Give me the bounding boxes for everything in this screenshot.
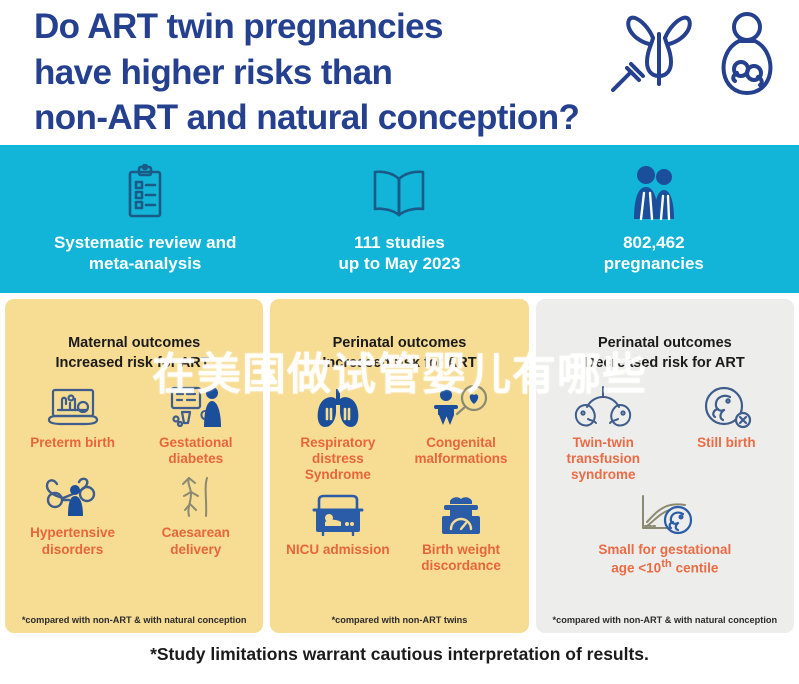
sga-label-superscript: th: [661, 558, 672, 570]
growth-chart-fetus-icon: [633, 490, 697, 538]
stats-band: Systematic review and meta-analysis 111 …: [0, 145, 799, 293]
header-section: Do ART twin pregnancies have higher risk…: [0, 0, 799, 145]
outcome-nicu-admission: NICU admission: [276, 486, 399, 576]
pregnant-woman-twins-icon: [717, 11, 777, 97]
blood-pressure-pregnant-woman-icon: [45, 473, 101, 521]
outcome-label: Small for gestational age <10th centile: [598, 542, 731, 577]
stat-studies-count: 111 studies up to May 2023: [272, 163, 526, 274]
outcome-label: Congenital malformations: [415, 435, 508, 467]
panel-items: Twin-twin transfusion syndrome: [542, 379, 788, 613]
panel-title: Perinatal outcomes Decreased risk for AR…: [542, 333, 788, 373]
outcome-label: NICU admission: [286, 542, 390, 558]
glucose-test-pregnant-woman-icon: [169, 383, 223, 431]
open-book-icon: [370, 163, 428, 221]
outcome-label: Twin-twin transfusion syndrome: [566, 435, 640, 484]
page-title: Do ART twin pregnancies have higher risk…: [0, 4, 590, 141]
page-title-line-2: have higher risks than: [34, 50, 590, 96]
panel-items: Preterm birth: [11, 379, 257, 613]
clipboard-checklist-icon: [123, 163, 167, 221]
incubator-icon: [311, 490, 365, 538]
outcome-hypertensive-disorders: Hypertensive disorders: [11, 469, 134, 559]
outcome-label: Caesarean delivery: [162, 525, 230, 557]
lungs-icon: [312, 383, 364, 431]
panel-footnote: *compared with non-ART & with natural co…: [542, 613, 788, 629]
panel-title: Maternal outcomes Increased risk for ART…: [11, 333, 257, 373]
outcome-congenital-malformations: Congenital malformations: [399, 379, 522, 486]
stat-label: 111 studies up to May 2023: [339, 233, 461, 274]
outcome-birth-weight-discordance: Birth weight discordance: [399, 486, 522, 576]
panel-perinatal-decreased: Perinatal outcomes Decreased risk for AR…: [536, 299, 794, 633]
outcome-gestational-diabetes: Gestational diabetes: [134, 379, 257, 469]
caesarean-scar-icon: [173, 473, 219, 521]
stat-systematic-review: Systematic review and meta-analysis: [18, 163, 272, 274]
outcome-still-birth: Still birth: [665, 379, 788, 486]
baby-weight-scale-icon: [436, 490, 486, 538]
footer-section: *Study limitations warrant cautious inte…: [0, 633, 799, 676]
outcome-preterm-birth: Preterm birth: [11, 379, 134, 469]
outcome-caesarean-delivery: Caesarean delivery: [134, 469, 257, 559]
outcome-label: Hypertensive disorders: [30, 525, 115, 557]
outcome-label: Preterm birth: [30, 435, 115, 451]
page-title-line-1: Do ART twin pregnancies: [34, 4, 590, 50]
panel-title: Perinatal outcomes Increased risk for AR…: [276, 333, 522, 373]
outcome-small-for-gestational-age: Small for gestational age <10th centile: [542, 486, 788, 579]
outcome-twin-twin-transfusion-syndrome: Twin-twin transfusion syndrome: [542, 379, 665, 486]
outcome-respiratory-distress-syndrome: Respiratory distress Syndrome: [276, 379, 399, 486]
panel-items: Respiratory distress Syndrome: [276, 379, 522, 613]
stat-label: 802,462 pregnancies: [604, 233, 704, 274]
outcome-label: Respiratory distress Syndrome: [278, 435, 397, 484]
sga-label-suffix: centile: [672, 560, 719, 575]
stat-pregnancies-count: 802,462 pregnancies: [527, 163, 781, 274]
stat-label: Systematic review and meta-analysis: [54, 233, 236, 274]
outcome-label: Birth weight discordance: [421, 542, 501, 574]
header-icon-group: [607, 6, 777, 101]
study-limitations-note: *Study limitations warrant cautious inte…: [150, 644, 649, 665]
panel-footnote: *compared with non-ART twins: [276, 613, 522, 629]
panel-footnote: *compared with non-ART & with natural co…: [11, 613, 257, 629]
panel-perinatal-increased: Perinatal outcomes Increased risk for AR…: [270, 299, 528, 633]
baby-magnifier-heart-icon: [433, 383, 489, 431]
panel-maternal-increased: Maternal outcomes Increased risk for ART…: [5, 299, 263, 633]
two-people-icon: [626, 163, 682, 221]
twin-fetuses-placenta-icon: [572, 383, 634, 431]
outcome-label: Gestational diabetes: [159, 435, 233, 467]
ultrasound-monitor-icon: [47, 383, 99, 431]
stillbirth-fetus-cross-icon: [700, 383, 752, 431]
page-title-line-3: non-ART and natural conception?: [34, 95, 590, 141]
uterus-syringe-ivf-icon: [609, 12, 709, 96]
outcome-panels: Maternal outcomes Increased risk for ART…: [0, 293, 799, 633]
outcome-label: Still birth: [697, 435, 756, 451]
